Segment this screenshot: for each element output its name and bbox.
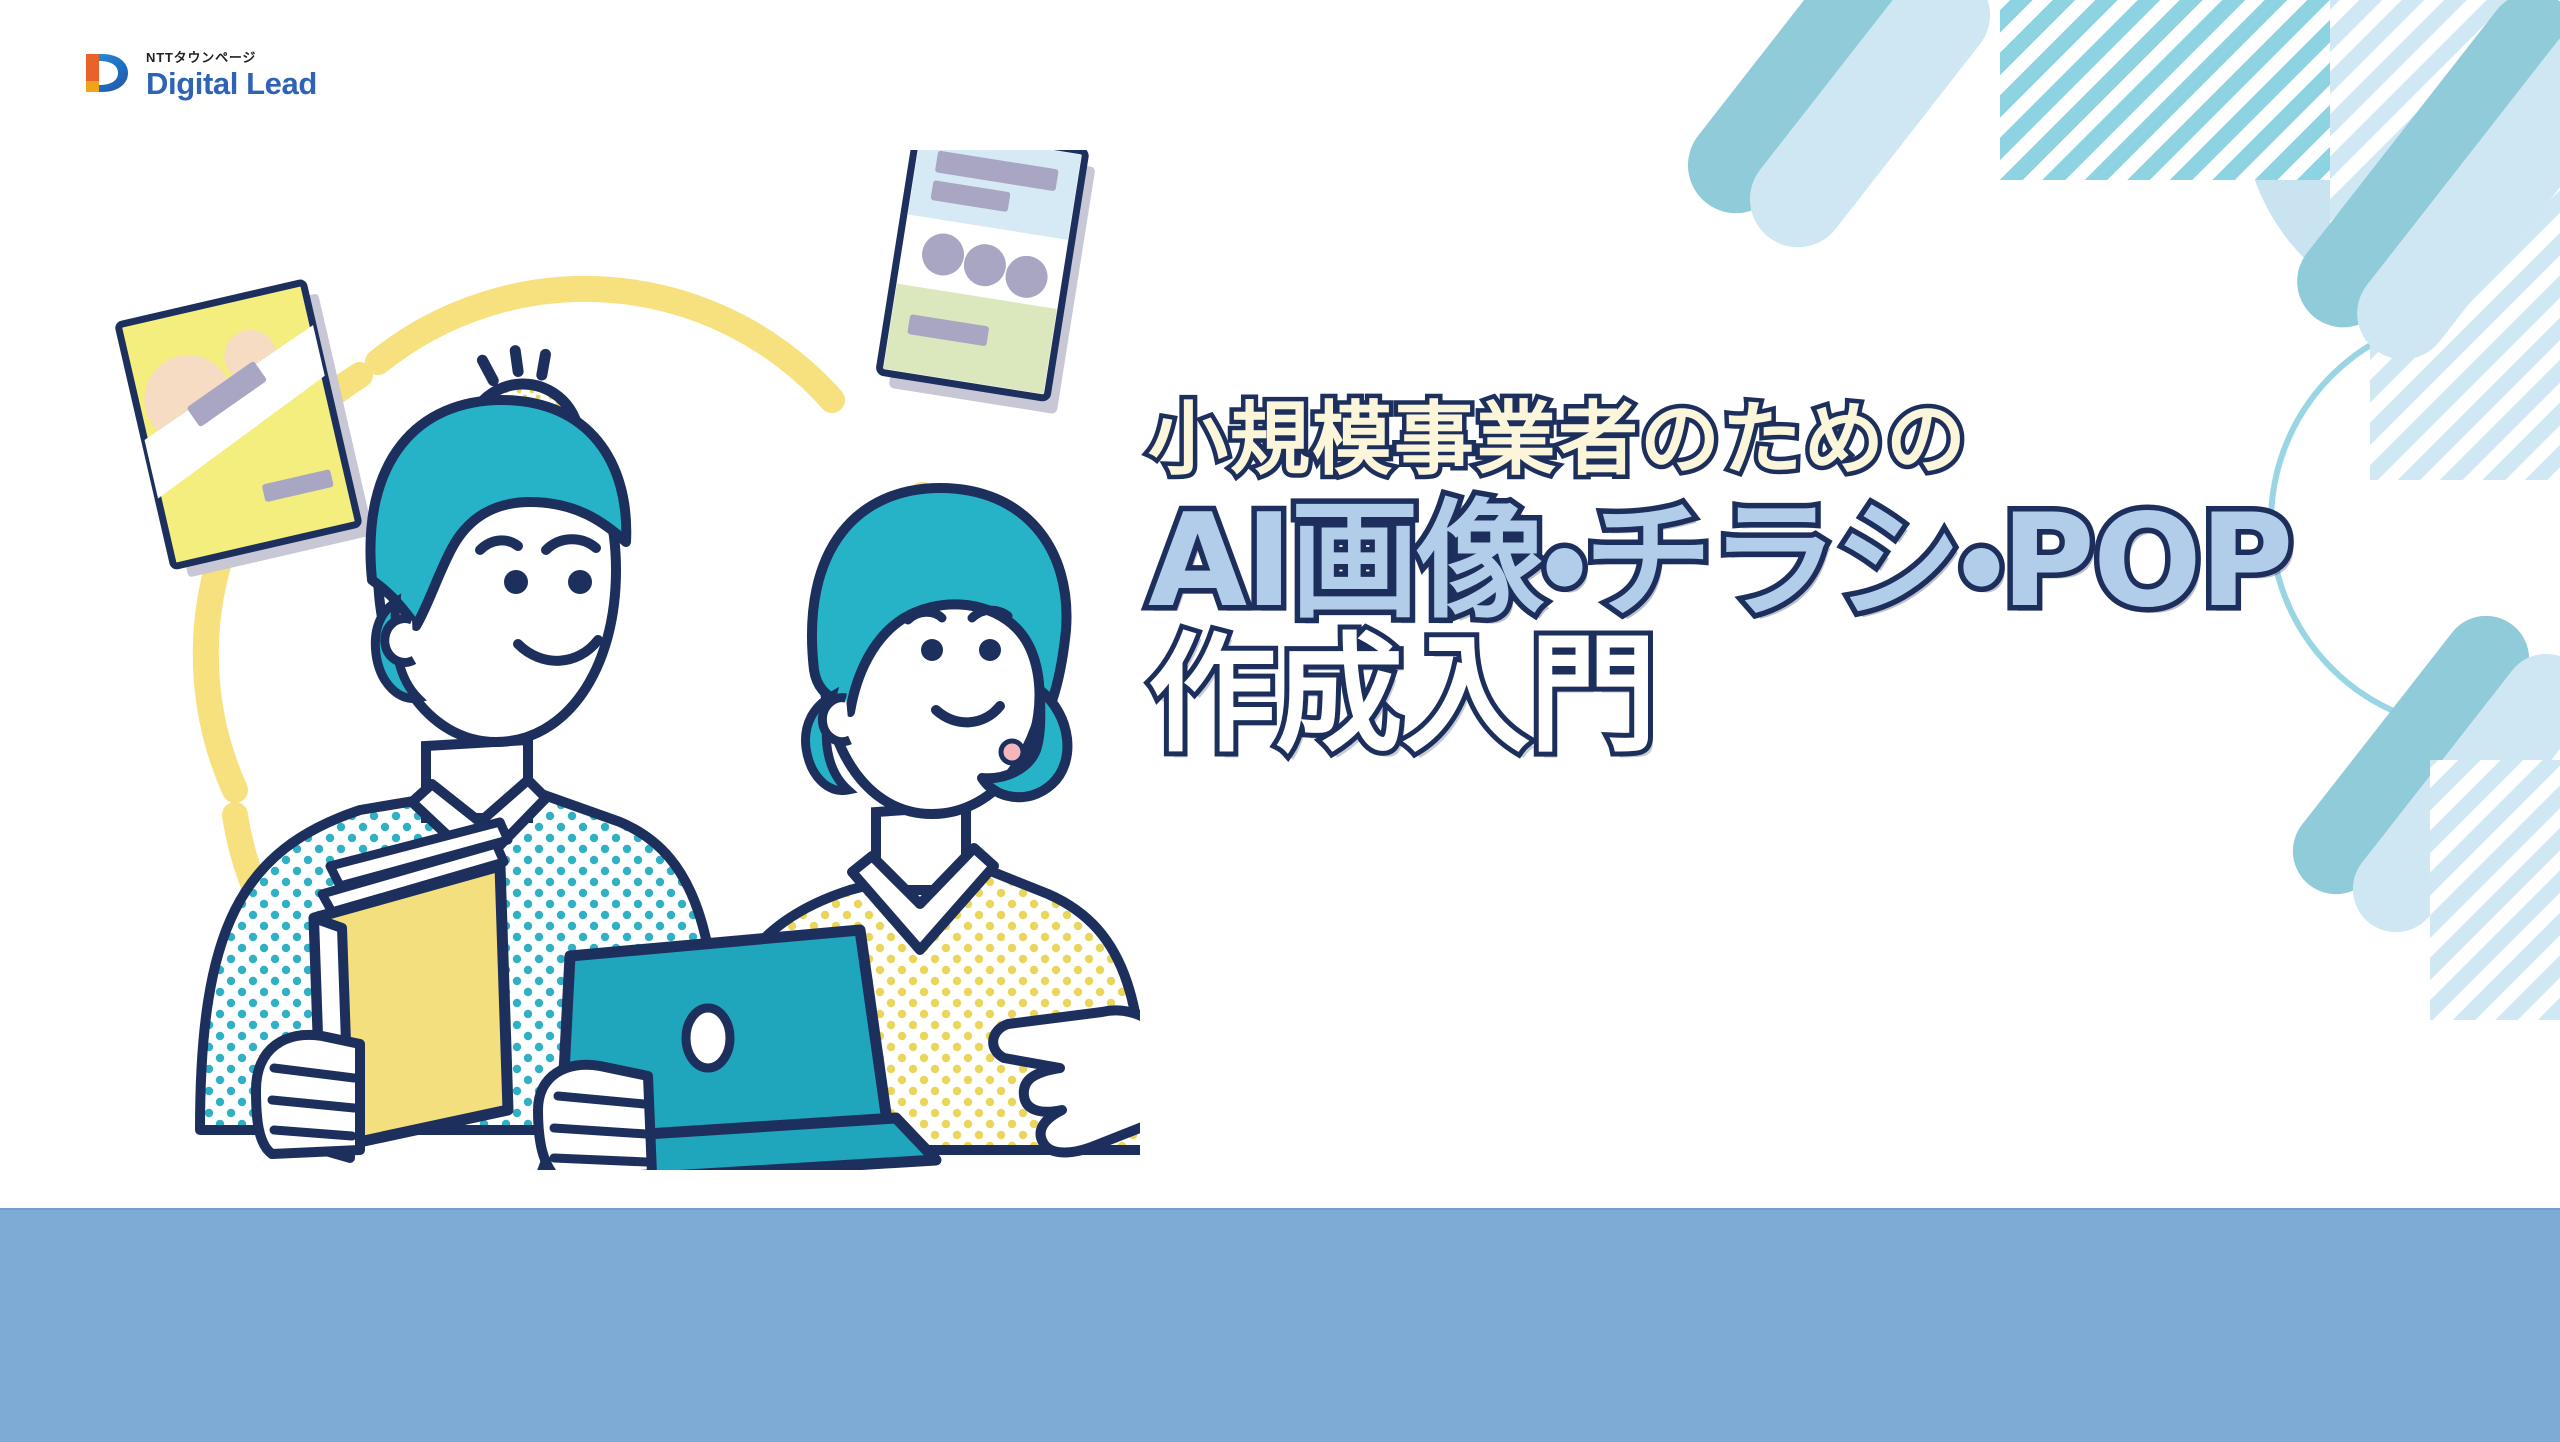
headline-main-line-1: AI画像・チラシ・POP [1148,498,2508,626]
stripe-band-upper [2000,0,2330,180]
brand-logo[interactable]: NTTタウンページ Digital Lead [78,45,317,101]
headline-main-line-2: 作成入門 [1148,632,2508,760]
flyer-card-left [118,280,374,581]
digital-lead-d-mark-icon [78,45,134,101]
logo-kana-text: NTTタウンページ [146,51,317,64]
bottom-band [0,1210,2560,1442]
headline-block: 小規模事業者のための AI画像・チラシ・POP 作成入門 [1148,400,2508,760]
slide-root: NTTタウンページ Digital Lead [0,0,2560,1442]
headline-subtitle: 小規模事業者のための [1148,400,2508,480]
logo-name-text: Digital Lead [146,68,317,99]
stripe-band-lower-right [2430,760,2560,1020]
flyer-card-top [877,150,1098,414]
male-hand [256,1035,360,1154]
hero-illustration [60,150,1140,1170]
